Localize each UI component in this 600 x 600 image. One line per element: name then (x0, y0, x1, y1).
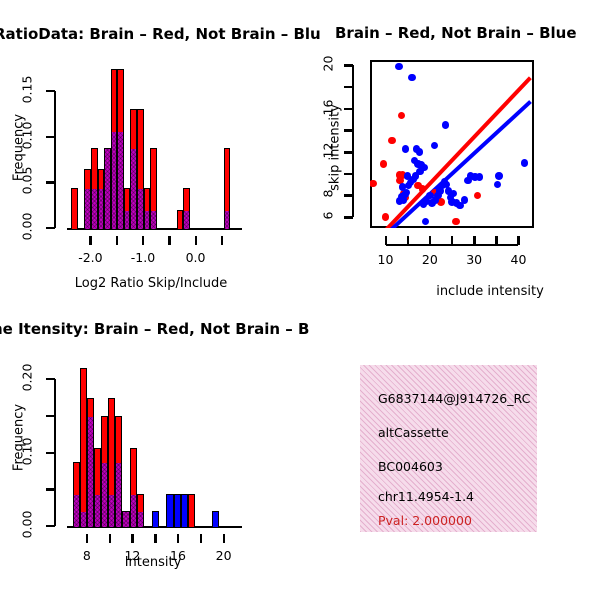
intensity-histogram-bar (122, 511, 129, 526)
scatter-point (521, 159, 528, 166)
intensity-histogram-bar-segment (213, 512, 218, 527)
intensity-histogram-bar (115, 416, 122, 526)
intensity-histogram-bar (101, 416, 108, 526)
panel-ratio-histogram-title: RatioData: Brain – Red, Not Brain – Blu (0, 25, 321, 43)
intensity-histogram-x-tick (109, 534, 111, 543)
intensity-histogram-bar (94, 448, 101, 526)
ratio-histogram-bar-overlap (151, 211, 156, 229)
scatter-y-tick-label: 20 (321, 44, 336, 84)
scatter-point (404, 172, 411, 179)
scatter-x-tick (473, 236, 475, 245)
intensity-histogram-x-tick (200, 534, 202, 543)
intensity-histogram-bar (87, 398, 94, 526)
intensity-histogram-bar-overlap (95, 495, 100, 527)
intensity-histogram-bar-overlap (123, 512, 128, 527)
intensity-histogram-bar-overlap (102, 463, 107, 527)
intensity-histogram-bar-overlap (109, 495, 114, 527)
scatter-y-tick (344, 216, 353, 218)
ratio-histogram-bar-overlap (112, 132, 117, 229)
ratio-histogram-x-tick (195, 236, 197, 245)
intensity-histogram-bar (174, 494, 181, 526)
intensity-histogram-y-tick (46, 488, 55, 490)
intensity-histogram-bar-overlap (88, 417, 93, 527)
intensity-histogram-y-axis-label: Frequency (12, 383, 27, 493)
ratio-histogram-bar-overlap (131, 149, 136, 229)
gene-info-line-3: chr11.4954-1.4 (378, 489, 474, 504)
intensity-histogram-x-tick (154, 534, 156, 543)
scatter-point (370, 180, 377, 187)
ratio-histogram-x-tick-label: -2.0 (68, 250, 112, 265)
scatter-y-axis-label: skip intensity (328, 93, 343, 203)
scatter-y-tick (344, 108, 353, 110)
intensity-histogram-bar-overlap (138, 512, 143, 527)
intensity-histogram-y-tick-label: 0.00 (20, 495, 35, 555)
ratio-histogram-y-tick (46, 181, 55, 183)
panel-intensity-histogram: ne Itensity: Brain – Red, Not Brain – B … (0, 300, 300, 600)
scatter-point (419, 185, 426, 192)
ratio-histogram-x-tick (89, 236, 91, 245)
gene-info-pval: Pval: 2.000000 (378, 513, 472, 528)
ratio-histogram-bar (150, 148, 157, 228)
scatter-point (388, 137, 395, 144)
gene-info-line-0: G6837144@J914726_RC (378, 391, 530, 406)
scatter-point (461, 196, 468, 203)
ratio-histogram-bar (91, 148, 98, 228)
ratio-histogram-bar-overlap (85, 189, 90, 229)
scatter-point (431, 142, 438, 149)
intensity-histogram-bar (73, 462, 80, 526)
panel-annotation: G6837144@J914726_RC altCassette BC004603… (300, 300, 600, 600)
scatter-y-tick (344, 173, 353, 175)
ratio-histogram-bar-segment (178, 211, 183, 229)
scatter-x-tick (385, 236, 387, 245)
intensity-histogram-y-tick (46, 378, 55, 380)
scatter-point (398, 112, 405, 119)
intensity-histogram-bar (152, 511, 159, 526)
ratio-histogram-bar (98, 169, 105, 228)
ratio-histogram-bar (117, 69, 124, 228)
scatter-point (422, 218, 429, 225)
intensity-histogram-bar-segment (182, 495, 187, 527)
intensity-histogram-bar-overlap (116, 463, 121, 527)
intensity-histogram-bar-segment (81, 369, 86, 527)
scatter-x-tick (517, 236, 519, 245)
scatter-y-tick (344, 151, 353, 153)
intensity-histogram-bar (80, 368, 87, 526)
scatter-x-tick-label: 20 (414, 252, 446, 267)
scatter-x-axis-label: include intensity (400, 284, 580, 299)
scatter-point (476, 173, 483, 180)
scatter-y-tick (344, 86, 353, 88)
ratio-histogram-y-axis-label: Frequency (12, 93, 27, 203)
intensity-histogram-bar-segment (189, 495, 194, 527)
intensity-histogram-bar-overlap (74, 495, 79, 527)
intensity-histogram-y-tick (46, 415, 55, 417)
scatter-point (495, 172, 502, 179)
scatter-point (450, 190, 457, 197)
ratio-histogram-y-tick (46, 136, 55, 138)
scatter-y-tick (344, 194, 353, 196)
ratio-histogram-x-tick (221, 236, 223, 245)
panel-intensity-histogram-title: ne Itensity: Brain – Red, Not Brain – B (0, 320, 309, 338)
ratio-histogram-bar (111, 69, 118, 228)
scatter-point (399, 183, 406, 190)
scatter-point (442, 121, 449, 128)
intensity-histogram-y-tick (46, 452, 55, 454)
panel-scatter: Brain – Red, Not Brain – Blue 6812162010… (300, 0, 600, 310)
intensity-histogram-bar (108, 398, 115, 526)
scatter-point (380, 160, 387, 167)
scatter-x-tick-label: 10 (370, 252, 402, 267)
scatter-x-tick-label: 30 (458, 252, 490, 267)
intensity-histogram-bar (212, 511, 219, 526)
intensity-histogram-bar (130, 448, 137, 526)
panel-ratio-histogram: RatioData: Brain – Red, Not Brain – Blu … (0, 0, 300, 310)
intensity-histogram-bar (166, 494, 173, 526)
ratio-histogram-bar (183, 188, 190, 228)
scatter-point (408, 74, 415, 81)
ratio-histogram-y-tick (46, 227, 55, 229)
intensity-histogram-x-tick (86, 534, 88, 543)
ratio-histogram-bar (71, 188, 78, 228)
scatter-point (382, 213, 389, 220)
ratio-histogram-bar-overlap (99, 189, 104, 229)
ratio-histogram-x-tick (116, 236, 118, 245)
ratio-histogram-bar-overlap (125, 211, 130, 229)
ratio-histogram-bar-overlap (145, 211, 150, 229)
ratio-histogram-x-tick (168, 236, 170, 245)
ratio-histogram-y-tick (46, 90, 55, 92)
intensity-histogram-bar (181, 494, 188, 526)
intensity-histogram-bar (137, 494, 144, 526)
intensity-histogram-bar-segment (153, 512, 158, 527)
intensity-histogram-bar-overlap (81, 512, 86, 527)
intensity-histogram-x-tick (223, 534, 225, 543)
gene-info-line-2: BC004603 (378, 459, 443, 474)
ratio-histogram-bar-overlap (118, 132, 123, 229)
panel-scatter-title: Brain – Red, Not Brain – Blue (335, 24, 577, 42)
scatter-x-tick-label: 40 (502, 252, 534, 267)
scatter-x-tick (407, 236, 409, 245)
intensity-histogram-x-axis-label: Intensity (78, 555, 228, 570)
intensity-histogram-bar (188, 494, 195, 526)
ratio-histogram-bar-overlap (105, 149, 110, 229)
scatter-x-tick (429, 236, 431, 245)
intensity-histogram-x-tick (177, 534, 179, 543)
gene-info-line-1: altCassette (378, 425, 449, 440)
scatter-point (452, 218, 459, 225)
ratio-histogram-bar-segment (72, 189, 77, 229)
scatter-point (395, 63, 402, 70)
ratio-histogram-y-axis (54, 91, 56, 228)
scatter-point (494, 181, 501, 188)
scatter-point (416, 148, 423, 155)
figure-page: RatioData: Brain – Red, Not Brain – Blu … (0, 0, 600, 600)
scatter-y-tick (344, 64, 353, 66)
scatter-x-tick (495, 236, 497, 245)
ratio-histogram-x-tick-label: -1.0 (121, 250, 165, 265)
scatter-point (396, 197, 403, 204)
intensity-histogram-bar-overlap (131, 495, 136, 527)
scatter-point (402, 145, 409, 152)
ratio-histogram-x-tick (142, 236, 144, 245)
gene-info-box: G6837144@J914726_RC altCassette BC004603… (360, 365, 537, 532)
ratio-histogram-x-tick-label: 0.0 (174, 250, 218, 265)
ratio-histogram-bar (224, 148, 231, 228)
ratio-histogram-bar-overlap (184, 211, 189, 229)
scatter-point (474, 192, 481, 199)
intensity-histogram-bar-segment (175, 495, 180, 527)
ratio-histogram-bar-overlap (92, 189, 97, 229)
scatter-y-tick (344, 129, 353, 131)
ratio-histogram-bar (130, 109, 137, 228)
scatter-clip-layer (370, 60, 534, 228)
intensity-histogram-y-tick (46, 525, 55, 527)
ratio-histogram-bar-overlap (138, 189, 143, 229)
scatter-x-tick (451, 236, 453, 245)
scatter-point (420, 200, 427, 207)
ratio-histogram-bar (137, 109, 144, 228)
ratio-histogram-bar-overlap (225, 211, 230, 229)
intensity-histogram-x-tick (131, 534, 133, 543)
ratio-histogram-x-axis-label: Log2 Ratio Skip/Include (66, 276, 236, 291)
intensity-histogram-bar-segment (167, 495, 172, 527)
